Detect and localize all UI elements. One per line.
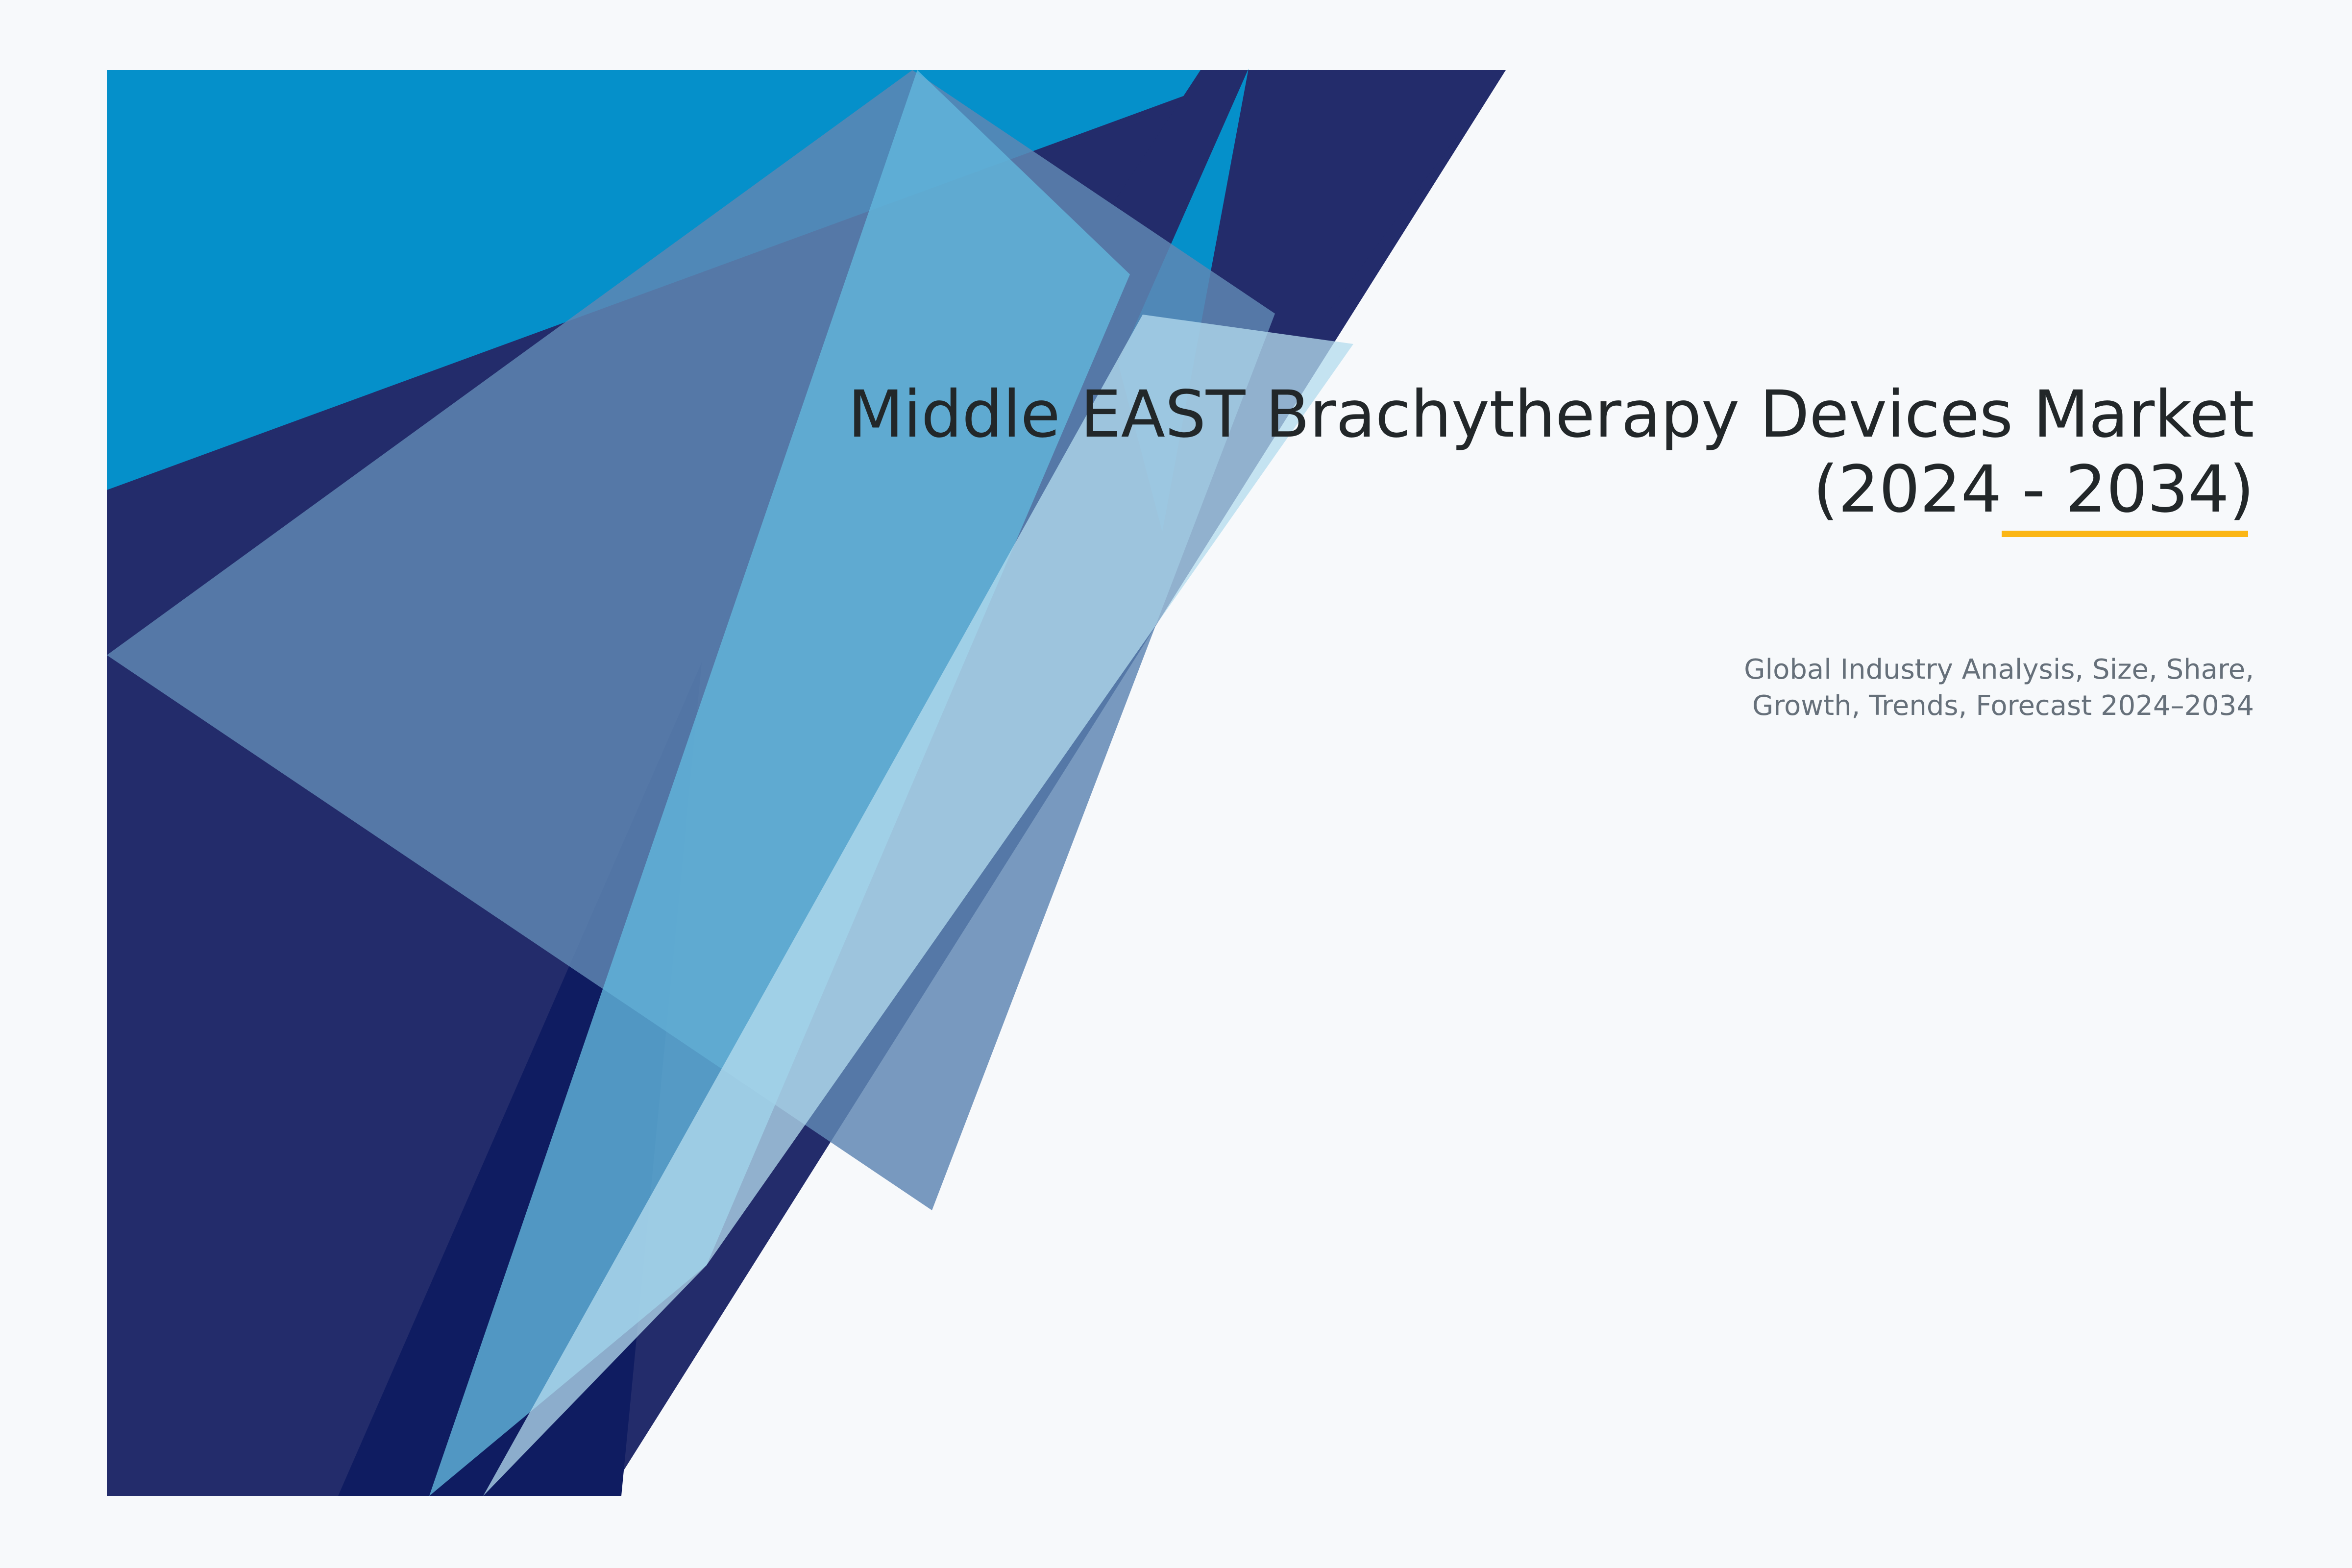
- title-accent-underline: [2002, 531, 2248, 537]
- subtitle-line-1: Global Industry Analysis, Size, Share,: [1421, 652, 2254, 688]
- cover-artwork: [0, 0, 2352, 1568]
- cover-text-block: Middle EAST Brachytherapy Devices Market…: [833, 377, 2254, 527]
- page-subtitle: Global Industry Analysis, Size, Share, G…: [1421, 652, 2254, 725]
- page-title: Middle EAST Brachytherapy Devices Market…: [833, 377, 2254, 527]
- subtitle-line-2: Growth, Trends, Forecast 2024–2034: [1421, 688, 2254, 724]
- report-cover-page: Middle EAST Brachytherapy Devices Market…: [0, 0, 2352, 1568]
